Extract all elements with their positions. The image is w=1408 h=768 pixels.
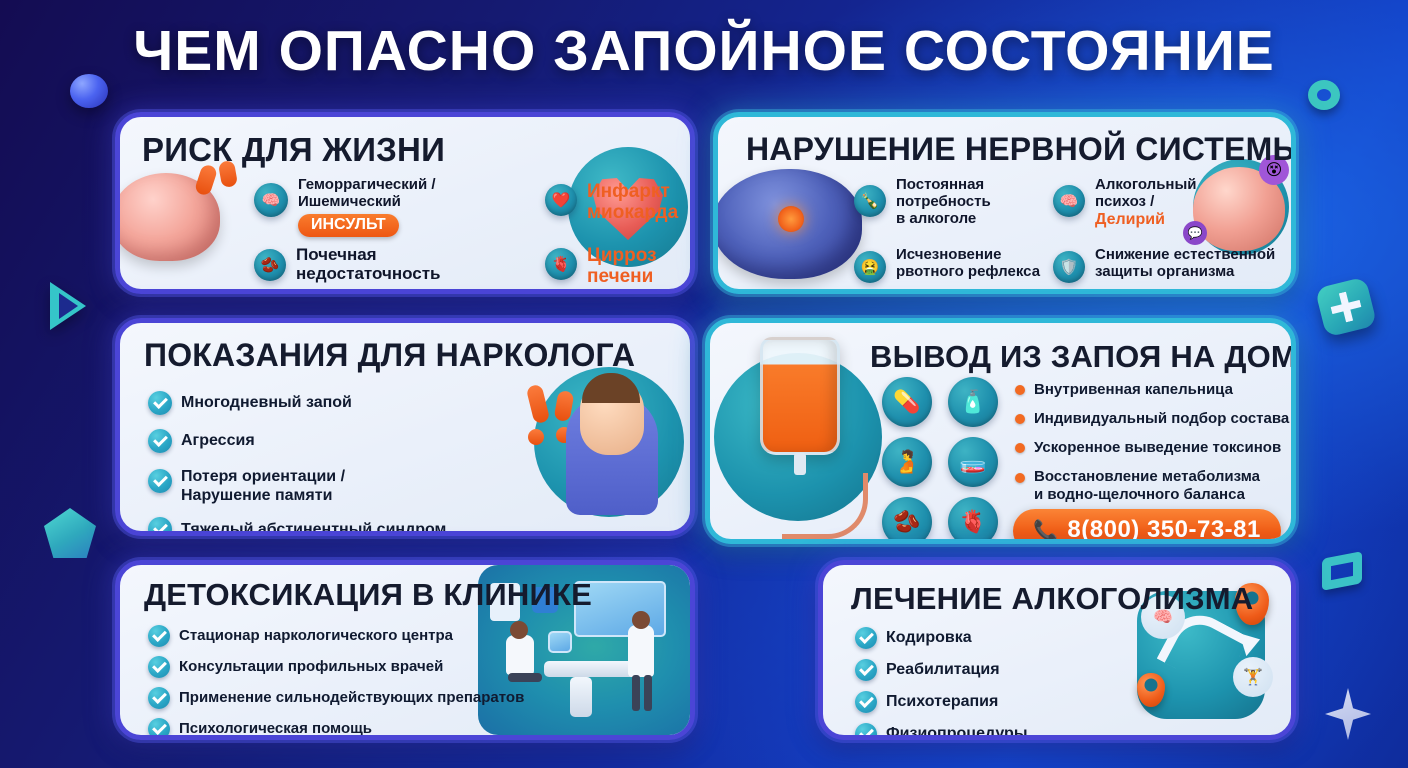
list-item: Физиопроцедуры [855, 723, 1095, 740]
indication-text: Многодневный запой [181, 393, 352, 412]
list-item: Применение сильнодействующих препаратов [148, 687, 568, 709]
phone-call-button[interactable]: 📞 8(800) 350-73-81 [1013, 509, 1281, 544]
detox-text: Ускоренное выведение токсинов [1034, 439, 1281, 457]
check-icon [148, 517, 172, 536]
infographic-poster: ЧЕМ ОПАСНО ЗАПОЙНОЕ СОСТОЯНИЕ РИСК ДЛЯ Ж… [0, 0, 1408, 768]
item-need-line2: потребность [896, 194, 991, 211]
item-vomit-line2: рвотного рефлекса [896, 264, 1040, 281]
brain-icon: 🧠 [254, 183, 288, 217]
item-kidney-line1: Почечная [296, 245, 441, 264]
list-item: Внутривенная капельница [1015, 381, 1295, 399]
detox-text: Индивидуальный подбор состава [1034, 410, 1289, 428]
card-title-clinic-detox: ДЕТОКСИКАЦИЯ В КЛИНИКЕ [144, 577, 592, 613]
heart-icon: ❤️ [545, 184, 577, 216]
item-vomit-reflex: 🤮 Исчезновение рвотного рефлекса [854, 247, 1040, 283]
list-item: Кодировка [855, 627, 1095, 649]
phone-icon: 📞 [1033, 518, 1058, 543]
triangle-outline-shape [50, 282, 86, 330]
item-myocardial-infarction: ❤️ Инфаркт миокарда [545, 181, 678, 224]
kidneys-icon: 🫘 [254, 249, 286, 281]
bullet-dot-icon [1015, 385, 1025, 395]
item-infarction-line1: Инфаркт [587, 181, 678, 202]
organ-icon-grid: 💊 🧴 🫄 🧫 🫘 🫀 [882, 377, 1006, 544]
list-item: Ускоренное выведение токсинов [1015, 439, 1295, 457]
kidneys-icon: 🫘 [882, 497, 932, 544]
card-title-treatment: ЛЕЧЕНИЕ АЛКОГОЛИЗМА [851, 581, 1253, 617]
check-icon [148, 656, 170, 678]
item-psychosis-line3: Делирий [1095, 211, 1197, 229]
card-title-nervous: НАРУШЕНИЕ НЕРВНОЙ СИСТЕМЫ [746, 131, 1296, 168]
page-title: ЧЕМ ОПАСНО ЗАПОЙНОЕ СОСТОЯНИЕ [0, 18, 1408, 84]
treatment-text: Кодировка [886, 628, 972, 647]
indication-text: Потеря ориентации / [181, 467, 345, 486]
item-stroke: 🧠 Геморрагический / Ишемический ИНСУЛЬТ [254, 177, 436, 237]
item-constant-need: 🍾 Постоянная потребность в алкоголе [854, 177, 991, 227]
item-infarction-line2: миокарда [587, 202, 678, 223]
list-item: Тяжелый абстинентный синдром [148, 517, 478, 536]
card-title-risk: РИСК ДЛЯ ЖИЗНИ [142, 131, 445, 169]
list-item: Консультации профильных врачей [148, 656, 568, 678]
check-icon [148, 718, 170, 740]
bullet-dot-icon [1015, 473, 1025, 483]
liver-icon: 🫀 [545, 248, 577, 280]
bullet-dot-icon [1015, 414, 1025, 424]
clinic-text: Стационар наркологического центра [179, 627, 453, 645]
stomach-icon: 🫄 [882, 437, 932, 487]
clinic-text: Психологическая помощь [179, 720, 372, 738]
medicine-bottle-icon: 🧴 [948, 377, 998, 427]
item-cirrhosis-line1: Цирроз [587, 245, 657, 266]
clinic-text: Применение сильнодействующих препаратов [179, 689, 524, 707]
item-kidney-failure: 🫘 Почечная недостаточность [254, 245, 441, 283]
four-point-star-shape [1325, 688, 1371, 740]
list-item: Стационар наркологического центра [148, 625, 568, 647]
check-icon [148, 469, 172, 493]
item-immunity-line2: защиты организма [1095, 264, 1275, 281]
vomit-reflex-icon: 🤮 [854, 251, 886, 283]
indication-text: Агрессия [181, 431, 255, 450]
check-icon [148, 429, 172, 453]
neuron-brain-illustration [713, 169, 862, 279]
liver-icon: 🫀 [948, 497, 998, 544]
item-cirrhosis-line2: печени [587, 266, 657, 287]
indication-text-2: Нарушение памяти [181, 486, 345, 505]
check-icon [855, 723, 877, 740]
item-need-line1: Постоянная [896, 177, 991, 194]
list-item: Многодневный запой [148, 391, 478, 415]
check-icon [855, 659, 877, 681]
detox-text: Восстановление метаболизма [1034, 468, 1260, 486]
iv-tube-decor [782, 473, 868, 539]
stroke-badge: ИНСУЛЬТ [298, 214, 399, 237]
card-indications: ПОКАЗАНИЯ ДЛЯ НАРКОЛОГА Многодневный зап… [115, 318, 695, 536]
item-need-line3: в алкоголе [896, 211, 991, 228]
check-icon [855, 627, 877, 649]
activity-icon: 🏋️ [1233, 657, 1273, 697]
head-psyche-icon: 🧠 [1053, 185, 1085, 217]
list-item: Агрессия [148, 429, 478, 453]
item-alcohol-psychosis: 🧠 Алкогольный психоз / Делирий [1053, 177, 1197, 229]
list-item: Потеря ориентации / Нарушение памяти [148, 467, 478, 505]
check-icon [855, 691, 877, 713]
iv-drip-illustration [760, 337, 840, 455]
list-item: Психологическая помощь [148, 718, 568, 740]
item-immunity-line1: Снижение естественной [1095, 247, 1275, 264]
treatment-text: Реабилитация [886, 660, 1000, 679]
pentagon-shape [44, 508, 96, 558]
card-title-home-detox: ВЫВОД ИЗ ЗАПОЯ НА ДОМУ [870, 339, 1296, 375]
list-item: Восстановление метаболизма и водно-щелоч… [1015, 468, 1295, 504]
medical-cross-shape [1315, 276, 1378, 337]
item-vomit-line1: Исчезновение [896, 247, 1040, 264]
card-title-indications: ПОКАЗАНИЯ ДЛЯ НАРКОЛОГА [144, 337, 635, 374]
item-kidney-line2: недостаточность [296, 264, 441, 283]
card-clinic-detox: ДЕТОКСИКАЦИЯ В КЛИНИКЕ Стационар нарколо… [115, 560, 695, 740]
shield-check-icon: 🛡️ [1053, 251, 1085, 283]
card-alcoholism-treatment: 🧠 🏋️ ЛЕЧЕНИЕ АЛКОГОЛИЗМА Кодировка Реаби… [818, 560, 1296, 740]
list-item: Психотерапия [855, 691, 1095, 713]
bottle-icon: 🍾 [854, 185, 886, 217]
item-immunity-decline: 🛡️ Снижение естественной защиты организм… [1053, 247, 1275, 283]
item-liver-cirrhosis: 🫀 Цирроз печени [545, 245, 657, 288]
item-stroke-line2: Ишемический [298, 194, 436, 211]
square-outline-shape [1322, 551, 1362, 591]
list-item: Индивидуальный подбор состава [1015, 410, 1295, 428]
item-psychosis-line2: психоз / [1095, 194, 1197, 211]
treatment-text: Физиопроцедуры [886, 724, 1027, 740]
check-icon [148, 687, 170, 709]
detox-text: Внутривенная капельница [1034, 381, 1233, 399]
intestine-icon: 🧫 [948, 437, 998, 487]
indication-text: Тяжелый абстинентный синдром [181, 520, 446, 536]
clinic-text: Консультации профильных врачей [179, 658, 443, 676]
treatment-text: Психотерапия [886, 692, 998, 711]
list-item: Реабилитация [855, 659, 1095, 681]
pills-icon: 💊 [882, 377, 932, 427]
card-nervous-system: 😵 💬 НАРУШЕНИЕ НЕРВНОЙ СИСТЕМЫ 🍾 Постоянн… [713, 112, 1296, 294]
torus-ring-shape [1308, 80, 1340, 110]
detox-text-2: и водно-щелочного баланса [1034, 486, 1260, 504]
phone-number: 8(800) 350-73-81 [1067, 516, 1260, 544]
check-icon [148, 625, 170, 647]
card-home-detox: ВЫВОД ИЗ ЗАПОЯ НА ДОМУ 💊 🧴 🫄 🧫 🫘 🫀 Внутр… [705, 318, 1296, 544]
item-psychosis-line1: Алкогольный [1095, 177, 1197, 194]
item-stroke-line1: Геморрагический / [298, 177, 436, 194]
iv-valve-decor [794, 453, 806, 475]
bullet-dot-icon [1015, 443, 1025, 453]
check-icon [148, 391, 172, 415]
card-risk-for-life: РИСК ДЛЯ ЖИЗНИ 🧠 Геморрагический / Ишеми… [115, 112, 695, 294]
